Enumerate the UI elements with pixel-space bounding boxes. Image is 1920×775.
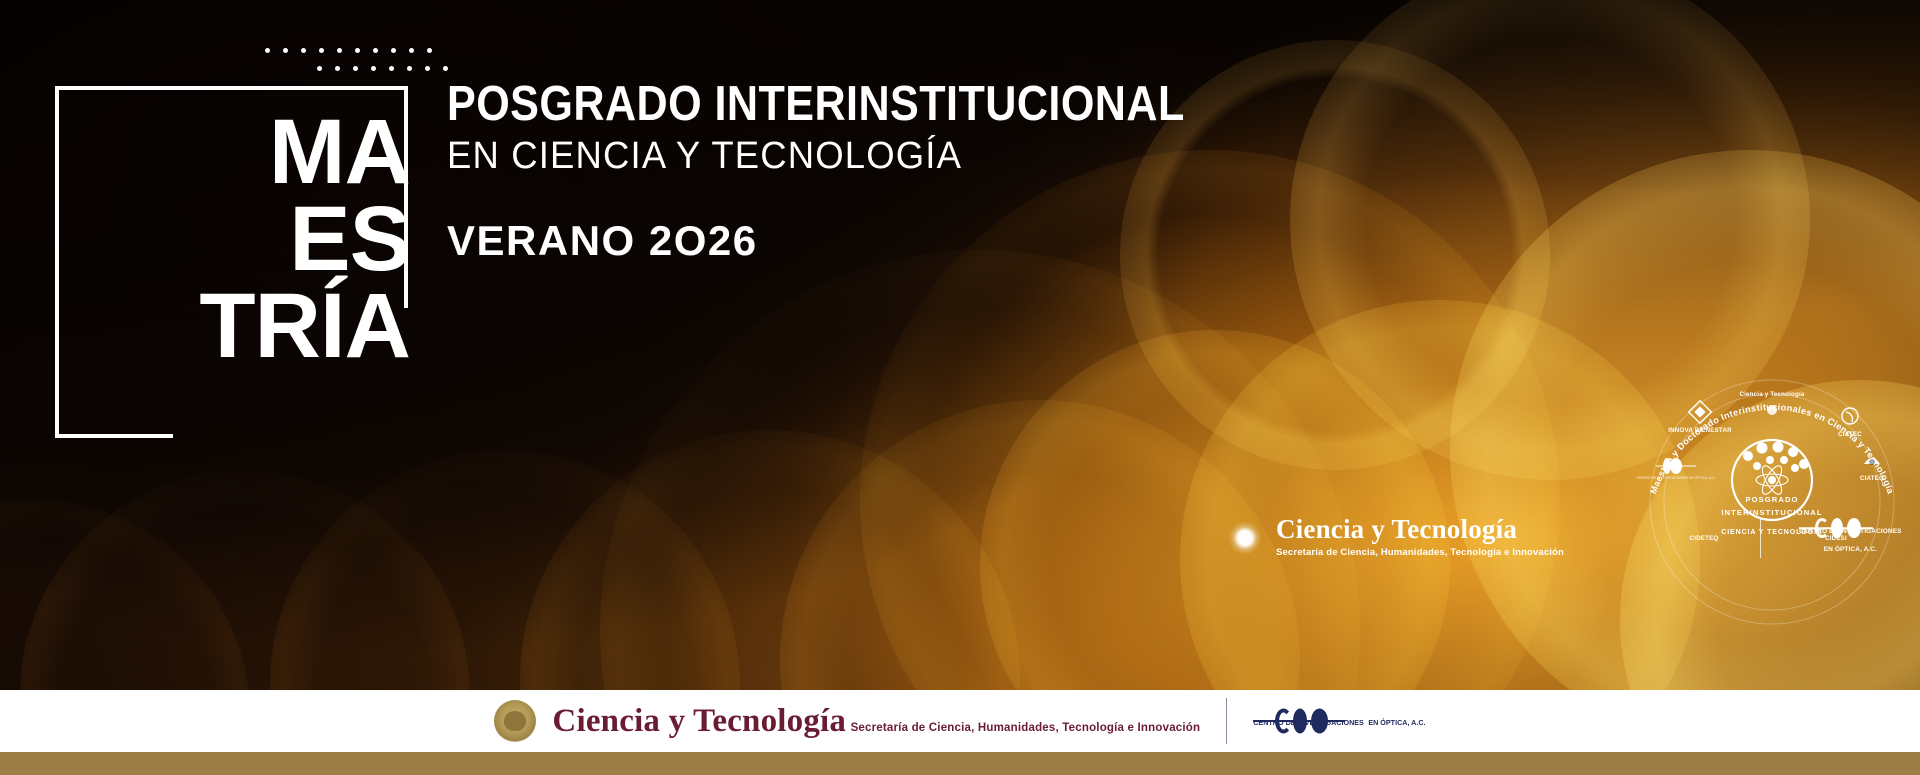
seal-word-posgrado: POSGRADO	[1745, 495, 1798, 504]
frame-top-edge	[55, 86, 408, 90]
svg-text:CENTRO DE INVESTIGACIONES EN Ó: CENTRO DE INVESTIGACIONES EN ÓPTICA, A.C…	[1636, 475, 1716, 480]
lockup-subtitle: Secretaría de Ciencia, Humanidades, Tecn…	[1276, 547, 1564, 558]
svg-text:INNOVA BIENESTAR: INNOVA BIENESTAR	[1668, 427, 1732, 434]
footer-title: Ciencia y Tecnología	[552, 703, 846, 739]
headline-secondary: EN CIENCIA Y TECNOLOGÍA	[447, 135, 1252, 179]
gold-accent-bar	[0, 752, 1920, 775]
mexico-coat-of-arms-icon	[1228, 521, 1262, 555]
svg-text:Ciencia y Tecnología: Ciencia y Tecnología	[1739, 391, 1804, 398]
footer-cio-subtitle-line-2: EN ÓPTICA, A.C.	[1368, 718, 1425, 727]
headline-primary: POSGRADO INTERINSTITUCIONAL	[447, 80, 1185, 129]
lockup-title: Ciencia y Tecnología	[1276, 514, 1517, 544]
seal-partner-cio: CENTRO DE INVESTIGACIONES EN ÓPTICA, A.C…	[1636, 458, 1716, 480]
svg-text:CIATEC: CIATEC	[1838, 431, 1862, 438]
svg-text:CIDETEQ: CIDETEQ	[1690, 535, 1719, 542]
frame-bottom-edge	[55, 434, 173, 438]
footer-divider	[1226, 698, 1227, 744]
seal-word-ciencia-tecnologia: CIENCIA Y TECNOLOGÍA	[1721, 527, 1823, 536]
season-label: VERANO 2O26	[447, 217, 1285, 265]
seal-word-interinstitucional: INTERINSTITUCIONAL	[1721, 508, 1822, 517]
hero-artwork: MA ES TRÍA POSGRADO INTERINSTITUCIONAL E…	[0, 0, 1920, 690]
headline-block: POSGRADO INTERINSTITUCIONAL EN CIENCIA Y…	[447, 80, 1285, 265]
footer-band: Ciencia y Tecnología Secretaría de Cienc…	[0, 690, 1920, 752]
wordmark-line-1: MA	[150, 108, 410, 197]
footer-subtitle: Secretaría de Ciencia, Humanidades, Tecn…	[851, 722, 1201, 734]
svg-text:CIDESI: CIDESI	[1825, 535, 1847, 542]
footer-cio-logo: CENTRO DE INVESTIGACIONES EN ÓPTICA, A.C…	[1253, 712, 1425, 730]
mexico-coat-of-arms-icon	[494, 700, 536, 742]
frame-left-edge	[55, 86, 59, 438]
promo-banner: MA ES TRÍA POSGRADO INTERINSTITUCIONAL E…	[0, 0, 1920, 775]
seal-partner-cideteq: CIDETEQ	[1690, 535, 1719, 542]
seal-partner-cidesi: CIDESI	[1825, 535, 1847, 542]
wordmark-line-2: ES	[150, 195, 410, 284]
svg-text:CIATEQ: CIATEQ	[1860, 475, 1884, 482]
posgrado-seal: Maestría y Doctorado Interinstitucionale…	[1636, 352, 1908, 552]
seal-core: POSGRADO INTERINSTITUCIONAL CIENCIA Y TE…	[1721, 440, 1823, 536]
maestria-wordmark: MA ES TRÍA	[150, 108, 410, 372]
wordmark-line-3: TRÍA	[150, 282, 410, 371]
